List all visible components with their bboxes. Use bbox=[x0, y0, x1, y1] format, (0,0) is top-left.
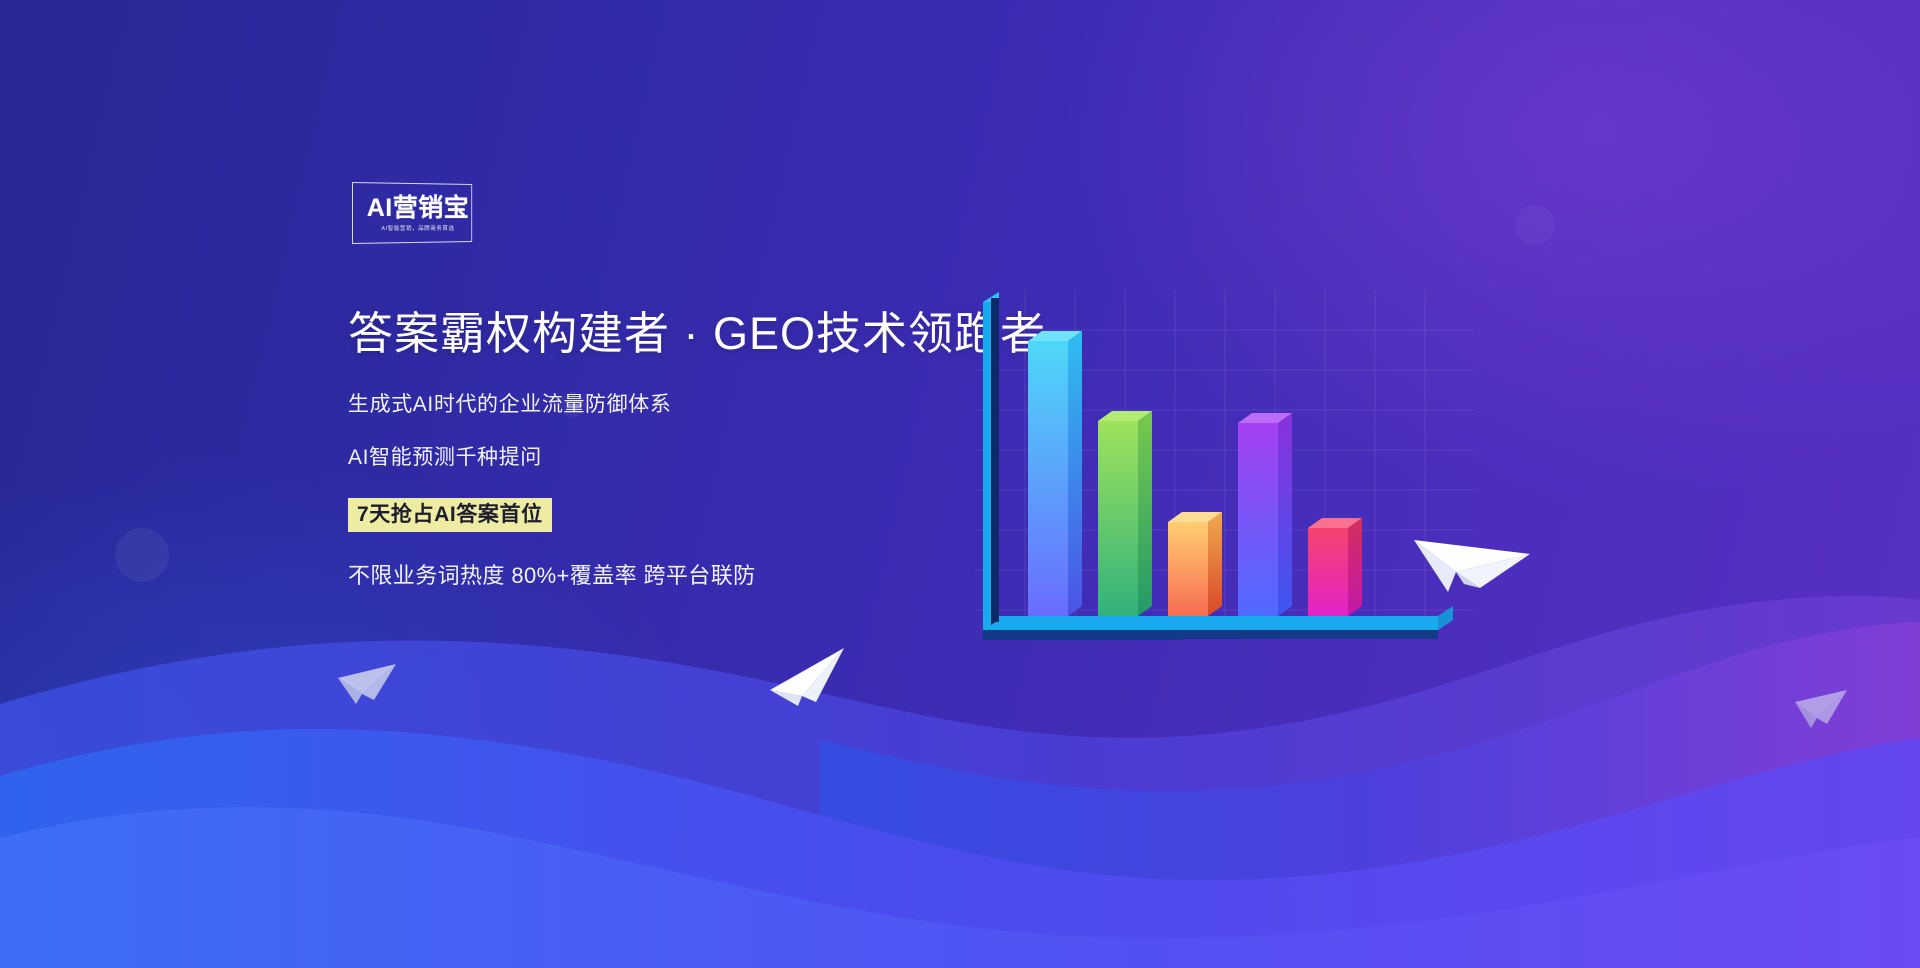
bar-chart-illustration bbox=[975, 290, 1475, 670]
chart-y-axis bbox=[983, 292, 999, 630]
hero-features-line: 不限业务词热度 80%+覆盖率 跨平台联防 bbox=[348, 565, 1048, 587]
chart-bar bbox=[1028, 331, 1082, 616]
logo-tagline: AI智能营销，品牌商务首选 bbox=[357, 226, 478, 232]
highlight-row: 7天抢占AI答案首位 bbox=[348, 498, 1048, 532]
decorative-circle bbox=[1515, 205, 1555, 245]
hero-banner: AI营销宝 AI智能营销，品牌商务首选 答案霸权构建者 · GEO技术领跑者 生… bbox=[0, 0, 1920, 968]
hero-subline-1: 生成式AI时代的企业流量防御体系 bbox=[348, 394, 1048, 415]
paper-plane-tiny bbox=[1793, 688, 1851, 734]
chart-bar bbox=[1098, 411, 1152, 616]
hero-copy: 答案霸权构建者 · GEO技术领跑者 生成式AI时代的企业流量防御体系 AI智能… bbox=[348, 308, 1048, 587]
paper-plane-large bbox=[1412, 512, 1532, 600]
hero-subline-2: AI智能预测千种提问 bbox=[348, 447, 1048, 468]
paper-plane-small bbox=[336, 660, 400, 710]
chart-bar bbox=[1168, 512, 1222, 616]
hero-headline: 答案霸权构建者 · GEO技术领跑者 bbox=[348, 308, 1048, 360]
brand-logo[interactable]: AI营销宝 AI智能营销，品牌商务首选 bbox=[352, 182, 484, 244]
chart-bar bbox=[1308, 518, 1362, 616]
paper-plane-medium bbox=[768, 646, 850, 708]
chart-bar bbox=[1238, 413, 1292, 616]
logo-text: AI营销宝 bbox=[352, 196, 484, 221]
highlight-badge: 7天抢占AI答案首位 bbox=[348, 498, 552, 532]
